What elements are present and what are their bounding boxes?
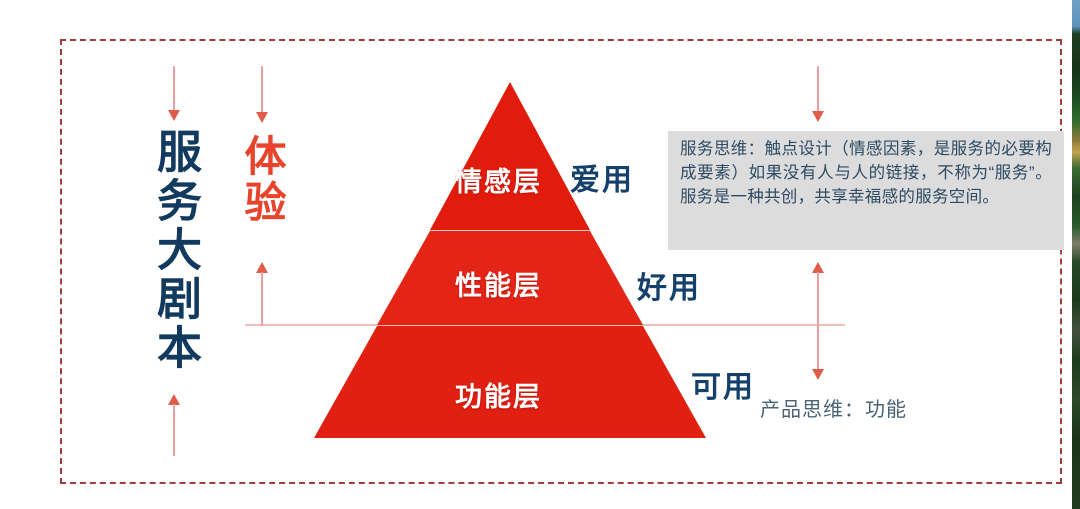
callout-arrow-top-head <box>812 111 824 122</box>
pyramid-diagram: 情感层 性能层 功能层 <box>305 78 715 440</box>
label-usable: 可用 <box>691 362 755 406</box>
script-arrow-top-head <box>168 110 180 121</box>
experience-arrow-top-line <box>261 66 263 114</box>
experience-arrow-top-head <box>256 112 268 123</box>
pyramid-label-emotional: 情感层 <box>455 160 542 199</box>
product-thinking-note: 产品思维：功能 <box>760 393 907 422</box>
experience-arrow-bottom-line <box>261 272 263 326</box>
product-note-arrow-line <box>817 326 819 371</box>
pyramid-layer-emotional <box>430 82 590 230</box>
pyramid-label-functional: 功能层 <box>455 375 542 414</box>
label-good-to-use: 好用 <box>637 263 701 307</box>
product-note-arrow-head <box>812 369 824 380</box>
right-edge-image-sliver <box>1072 0 1080 509</box>
slide-canvas: 服务大剧本 体验 情感层 性能层 功能层 爱用 好用 可用 服务思维：触点 <box>0 0 1080 509</box>
label-experience: 体验 <box>241 134 283 226</box>
label-service-script: 服务大剧本 <box>153 128 198 373</box>
callout-arrow-up-line <box>817 272 819 326</box>
pyramid-label-performance: 性能层 <box>455 264 542 303</box>
callout-arrow-top-line <box>817 66 819 113</box>
service-thinking-callout: 服务思维：触点设计（情感因素，是服务的必要构成要素）如果没有人与人的链接，不称为… <box>668 131 1064 250</box>
label-love-to-use: 爱用 <box>570 155 634 199</box>
script-arrow-bottom-line <box>173 404 175 456</box>
script-arrow-top-line <box>173 66 175 112</box>
